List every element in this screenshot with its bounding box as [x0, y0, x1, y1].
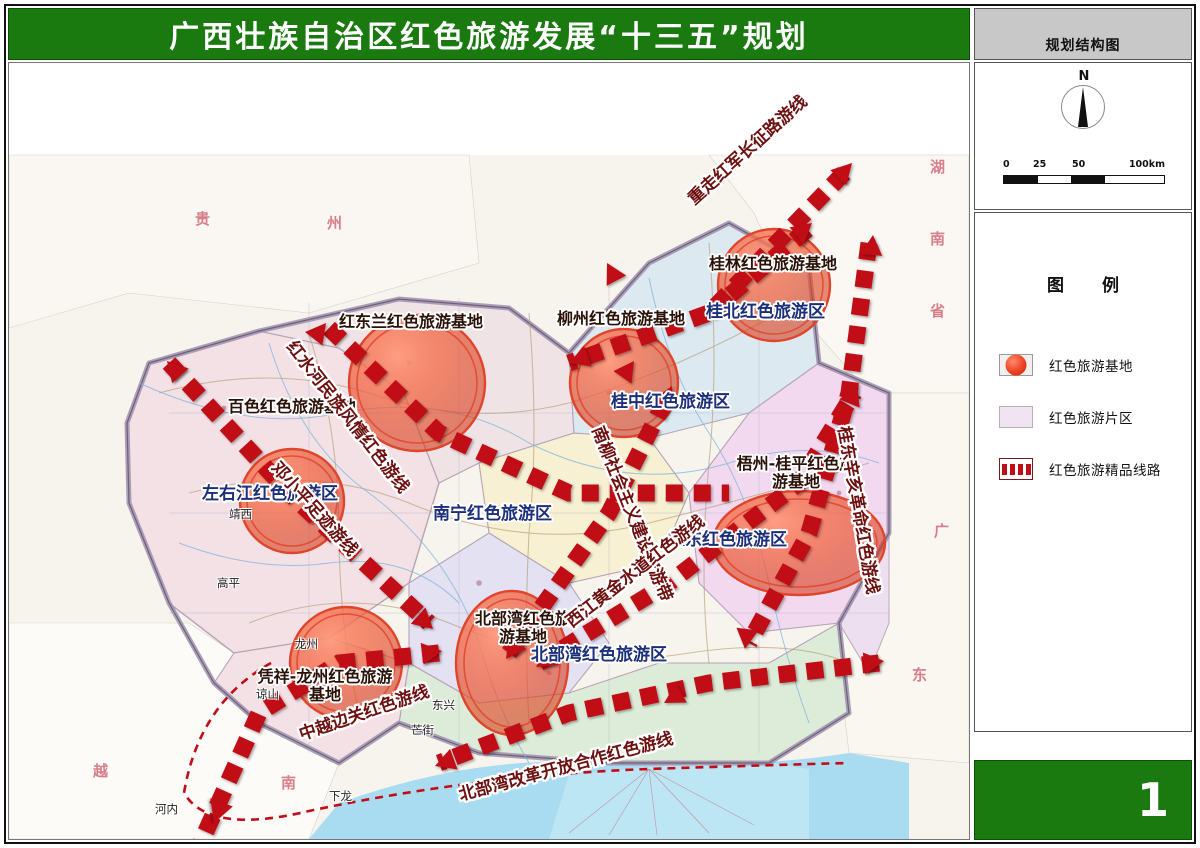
map-canvas: 贵 州 湖 南 省 广 东 越 南 红东兰红色旅游基地 百色红色旅游基地 柳州红…	[9, 63, 969, 839]
north-label: N	[975, 69, 1193, 84]
map-frame[interactable]: 贵 州 湖 南 省 广 东 越 南 红东兰红色旅游基地 百色红色旅游基地 柳州红…	[8, 62, 970, 840]
legend-label-area: 红色旅游片区	[1049, 407, 1133, 427]
legend-item-route[interactable]: 红色旅游精品线路	[999, 452, 1191, 486]
basemap-svg	[9, 63, 969, 839]
page-number: 1	[1137, 777, 1169, 823]
scale-tick-0: 0	[1003, 159, 1010, 170]
sheet-name: 规划结构图	[1046, 35, 1121, 55]
page-title: 广西壮族自治区红色旅游发展“十三五”规划	[169, 12, 808, 56]
north-arrow: N	[975, 69, 1193, 131]
legend-heading: 图 例	[975, 271, 1191, 296]
legend-item-base[interactable]: 红色旅游基地	[999, 348, 1191, 382]
compass-north-icon	[1061, 85, 1107, 131]
north-and-scale-panel: N 0 25 50 100km	[974, 62, 1192, 210]
red-tourism-base-icon	[999, 354, 1033, 376]
legend-panel: 图 例 红色旅游基地 红色旅游片区 红色旅游精品线路	[974, 212, 1192, 732]
legend-label-route: 红色旅游精品线路	[1049, 459, 1161, 479]
red-tourism-route-icon	[999, 458, 1033, 480]
plan-sheet: 广西壮族自治区红色旅游发展“十三五”规划 规划结构图	[0, 0, 1200, 848]
scale-tick-50: 50	[1072, 159, 1085, 170]
sheet-name-box: 规划结构图	[974, 8, 1192, 60]
legend-items: 红色旅游基地 红色旅游片区 红色旅游精品线路	[975, 348, 1191, 486]
page-number-box: 1	[974, 760, 1192, 840]
legend-label-base: 红色旅游基地	[1049, 355, 1133, 375]
legend-item-area[interactable]: 红色旅游片区	[999, 400, 1191, 434]
title-bar: 广西壮族自治区红色旅游发展“十三五”规划	[8, 8, 970, 60]
scale-bar: 0 25 50 100km	[1003, 159, 1165, 184]
scale-tick-25: 25	[1033, 159, 1046, 170]
scale-tick-100: 100km	[1129, 159, 1165, 170]
red-tourism-area-icon	[999, 406, 1033, 428]
